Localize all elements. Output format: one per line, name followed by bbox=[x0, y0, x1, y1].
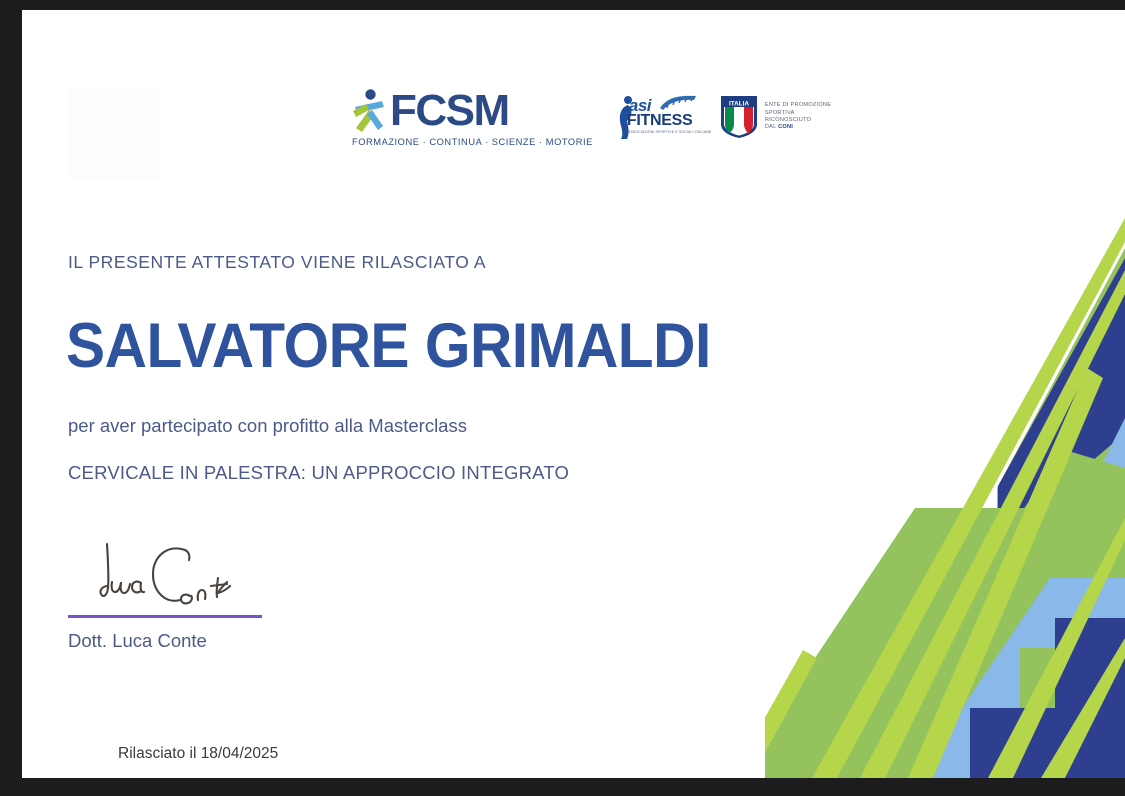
italia-shield-label: ITALIA bbox=[729, 101, 749, 108]
stripe-navy-wedge bbox=[998, 258, 1125, 508]
asi-wordmark-line2: FITNESS bbox=[627, 113, 692, 129]
coni-logo: ITALIA ENTE DI PROMOZIONE SPORTIVA RICON… bbox=[719, 94, 831, 140]
signer-name: Dott. Luca Conte bbox=[68, 630, 207, 652]
course-prefix-line: per aver partecipato con profitto alla M… bbox=[68, 415, 467, 437]
stripe-blue-band bbox=[915, 418, 1125, 778]
issued-date: Rilasciato il 18/04/2025 bbox=[118, 745, 278, 763]
fcsm-logo: FCSM FORMAZIONE · CONTINUA · SCIENZE · M… bbox=[352, 88, 593, 147]
fcsm-logo-top: FCSM bbox=[352, 88, 509, 134]
coni-text-line1: ENTE DI PROMOZIONE bbox=[765, 102, 831, 109]
logo-row: FCSM FORMAZIONE · CONTINUA · SCIENZE · M… bbox=[352, 82, 831, 152]
intro-line: IL PRESENTE ATTESTATO VIENE RILASCIATO A bbox=[68, 252, 486, 273]
screenshot-viewport: FCSM FORMAZIONE · CONTINUA · SCIENZE · M… bbox=[0, 0, 1125, 796]
fcsm-wordmark: FCSM bbox=[390, 89, 509, 133]
fcsm-figure-icon bbox=[352, 88, 386, 134]
certificate-page: FCSM FORMAZIONE · CONTINUA · SCIENZE · M… bbox=[22, 10, 1125, 778]
asi-fitness-logo: asi FITNESS ASSOCIAZIONI SPORTIVE E SOCI… bbox=[615, 93, 697, 141]
asi-swoosh-icon bbox=[659, 95, 697, 111]
stripe-navy-block bbox=[970, 618, 1125, 778]
coni-text-line4: DAL CONI bbox=[765, 124, 831, 131]
course-title: CERVICALE IN PALESTRA: UN APPROCCIO INTE… bbox=[68, 462, 569, 484]
italia-shield-icon: ITALIA bbox=[719, 94, 759, 140]
coni-recognition-text: ENTE DI PROMOZIONE SPORTIVA RICONOSCIUTO… bbox=[765, 102, 831, 132]
stripe-green-field bbox=[765, 248, 1125, 778]
diagonal-stripes-decoration bbox=[765, 218, 1125, 778]
coni-text-line4-prefix: DAL bbox=[765, 124, 778, 130]
asi-subtitle: ASSOCIAZIONI SPORTIVE E SOCIALI ITALIANE bbox=[628, 130, 711, 134]
coni-text-line4-bold: CONI bbox=[778, 124, 793, 130]
signature-rule bbox=[68, 615, 262, 618]
recipient-name: SALVATORE GRIMALDI bbox=[66, 310, 711, 382]
stripe-green-inner bbox=[975, 450, 1125, 578]
fcsm-tagline: FORMAZIONE · CONTINUA · SCIENZE · MOTORI… bbox=[352, 137, 593, 147]
coni-text-line2: SPORTIVA bbox=[765, 110, 831, 117]
coni-text-line3: RICONOSCIUTO bbox=[765, 117, 831, 124]
image-placeholder-box bbox=[68, 88, 162, 180]
lime-tick-small bbox=[765, 650, 817, 778]
handwritten-signature-icon bbox=[90, 538, 260, 616]
signature-block: Dott. Luca Conte bbox=[68, 538, 328, 658]
lime-diagonal-lines bbox=[812, 218, 1125, 778]
